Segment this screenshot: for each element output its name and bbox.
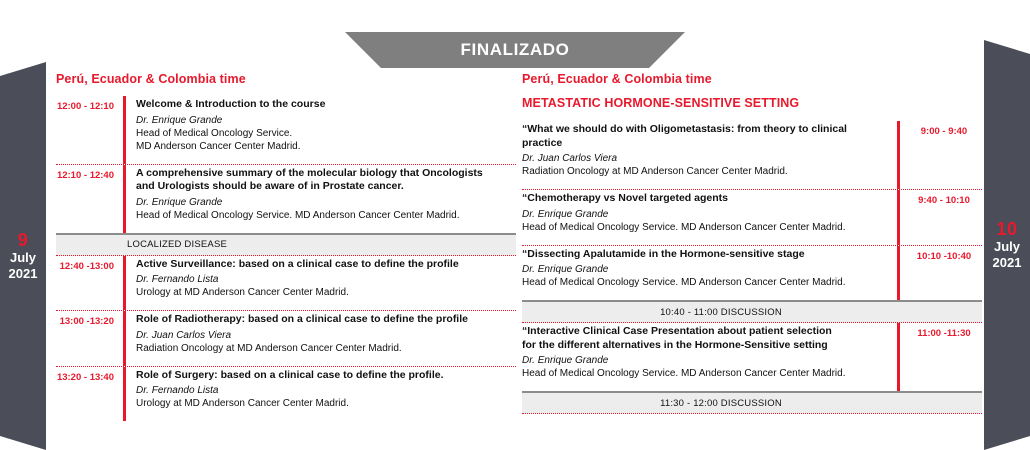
session-row: 13:00 -13:20Role of Radiotherapy: based … (56, 311, 516, 366)
session-row: 12:00 - 12:10Welcome & Introduction to t… (56, 96, 516, 164)
session-affiliation: Urology at MD Anderson Cancer Center Mad… (136, 286, 516, 299)
session-body: Role of Surgery: based on a clinical cas… (126, 367, 516, 422)
session-title: “Dissecting Apalutamide in the Hormone-s… (522, 248, 887, 262)
session-body: Active Surveillance: based on a clinical… (126, 256, 516, 311)
agenda-band: 10:40 - 11:00 DISCUSSION (522, 300, 982, 323)
session-body: “Dissecting Apalutamide in the Hormone-s… (522, 246, 897, 301)
session-body: “Interactive Clinical Case Presentation … (522, 323, 897, 391)
session-speaker: Dr. Enrique Grande (136, 196, 516, 209)
session-affiliation: MD Anderson Cancer Center Madrid. (136, 140, 516, 153)
session-speaker: Dr. Juan Carlos Viera (136, 329, 516, 342)
session-speaker: Dr. Enrique Grande (136, 114, 516, 127)
session-time: 12:00 - 12:10 (56, 96, 123, 164)
session-speaker: Dr. Enrique Grande (522, 354, 887, 367)
session-title: “Interactive Clinical Case Presentation … (522, 325, 887, 352)
session-speaker: Dr. Enrique Grande (522, 263, 887, 276)
session-body: “Chemotherapy vs Novel targeted agentsDr… (522, 190, 897, 245)
session-time: 9:40 - 10:10 (900, 190, 982, 245)
agenda-column-left: Perú, Ecuador & Colombia time 12:00 - 12… (56, 72, 516, 421)
date-day-right: 10 (996, 219, 1017, 239)
session-affiliation: Head of Medical Oncology Service. (136, 127, 516, 140)
session-row: “Chemotherapy vs Novel targeted agentsDr… (522, 190, 982, 245)
status-banner: FINALIZADO (345, 32, 685, 68)
date-month-right: July (994, 239, 1020, 255)
agenda-band: 11:30 - 12:00 DISCUSSION (522, 391, 982, 414)
session-row: 12:10 - 12:40A comprehensive summary of … (56, 165, 516, 233)
session-affiliation: Head of Medical Oncology Service. MD And… (136, 209, 516, 222)
session-row: “Interactive Clinical Case Presentation … (522, 323, 982, 391)
timezone-header-left: Perú, Ecuador & Colombia time (56, 72, 516, 87)
agenda-band-label: 11:30 - 12:00 DISCUSSION (660, 398, 844, 409)
session-title: A comprehensive summary of the molecular… (136, 167, 516, 194)
timezone-header-right: Perú, Ecuador & Colombia time (522, 72, 982, 87)
session-speaker: Dr. Enrique Grande (522, 208, 887, 221)
session-body: A comprehensive summary of the molecular… (126, 165, 516, 233)
date-day-left: 9 (18, 230, 29, 250)
date-year-right: 2021 (993, 255, 1022, 271)
session-speaker: Dr. Juan Carlos Viera (522, 152, 887, 165)
session-row: “Dissecting Apalutamide in the Hormone-s… (522, 246, 982, 301)
session-time: 9:00 - 9:40 (900, 121, 982, 189)
session-title: Role of Radiotherapy: based on a clinica… (136, 313, 516, 327)
session-row: 13:20 - 13:40Role of Surgery: based on a… (56, 367, 516, 422)
section-header-right: METASTATIC HORMONE-SENSITIVE SETTING (522, 96, 982, 111)
agenda-band-label: 10:40 - 11:00 DISCUSSION (660, 307, 844, 318)
agenda-column-right: Perú, Ecuador & Colombia time METASTATIC… (522, 72, 982, 414)
session-title: “What we should do with Oligometastasis:… (522, 123, 887, 150)
session-affiliation: Head of Medical Oncology Service. MD And… (522, 221, 887, 234)
session-title: Active Surveillance: based on a clinical… (136, 258, 516, 272)
agenda-page: 9 July 2021 10 July 2021 FINALIZADO Perú… (0, 0, 1030, 450)
session-time: 12:10 - 12:40 (56, 165, 123, 233)
date-month-left: July (10, 250, 36, 266)
date-panel-left: 9 July 2021 (0, 62, 46, 450)
session-affiliation: Urology at MD Anderson Cancer Center Mad… (136, 397, 516, 410)
session-row: 12:40 -13:00Active Surveillance: based o… (56, 256, 516, 311)
session-time: 11:00 -11:30 (900, 323, 982, 391)
status-badge: FINALIZADO (461, 40, 570, 60)
session-list-right: “What we should do with Oligometastasis:… (522, 121, 982, 414)
session-time: 10:10 -10:40 (900, 246, 982, 301)
session-title: Welcome & Introduction to the course (136, 98, 516, 112)
session-time: 13:20 - 13:40 (56, 367, 123, 422)
agenda-band-label: LOCALIZED DISEASE (56, 239, 227, 250)
session-time: 13:00 -13:20 (56, 311, 123, 366)
session-body: Welcome & Introduction to the courseDr. … (126, 96, 516, 164)
session-row: “What we should do with Oligometastasis:… (522, 121, 982, 189)
session-list-left: 12:00 - 12:10Welcome & Introduction to t… (56, 96, 516, 421)
session-time: 12:40 -13:00 (56, 256, 123, 311)
session-affiliation: Head of Medical Oncology Service. MD And… (522, 367, 887, 380)
date-year-left: 2021 (9, 266, 38, 282)
date-panel-right: 10 July 2021 (984, 40, 1030, 450)
session-speaker: Dr. Fernando Lista (136, 384, 516, 397)
session-speaker: Dr. Fernando Lista (136, 273, 516, 286)
agenda-band: LOCALIZED DISEASE (56, 233, 516, 256)
session-title: Role of Surgery: based on a clinical cas… (136, 369, 516, 383)
session-title: “Chemotherapy vs Novel targeted agents (522, 192, 887, 206)
session-body: “What we should do with Oligometastasis:… (522, 121, 897, 189)
session-affiliation: Radiation Oncology at MD Anderson Cancer… (136, 342, 516, 355)
session-affiliation: Radiation Oncology at MD Anderson Cancer… (522, 165, 887, 178)
session-affiliation: Head of Medical Oncology Service. MD And… (522, 276, 887, 289)
session-body: Role of Radiotherapy: based on a clinica… (126, 311, 516, 366)
